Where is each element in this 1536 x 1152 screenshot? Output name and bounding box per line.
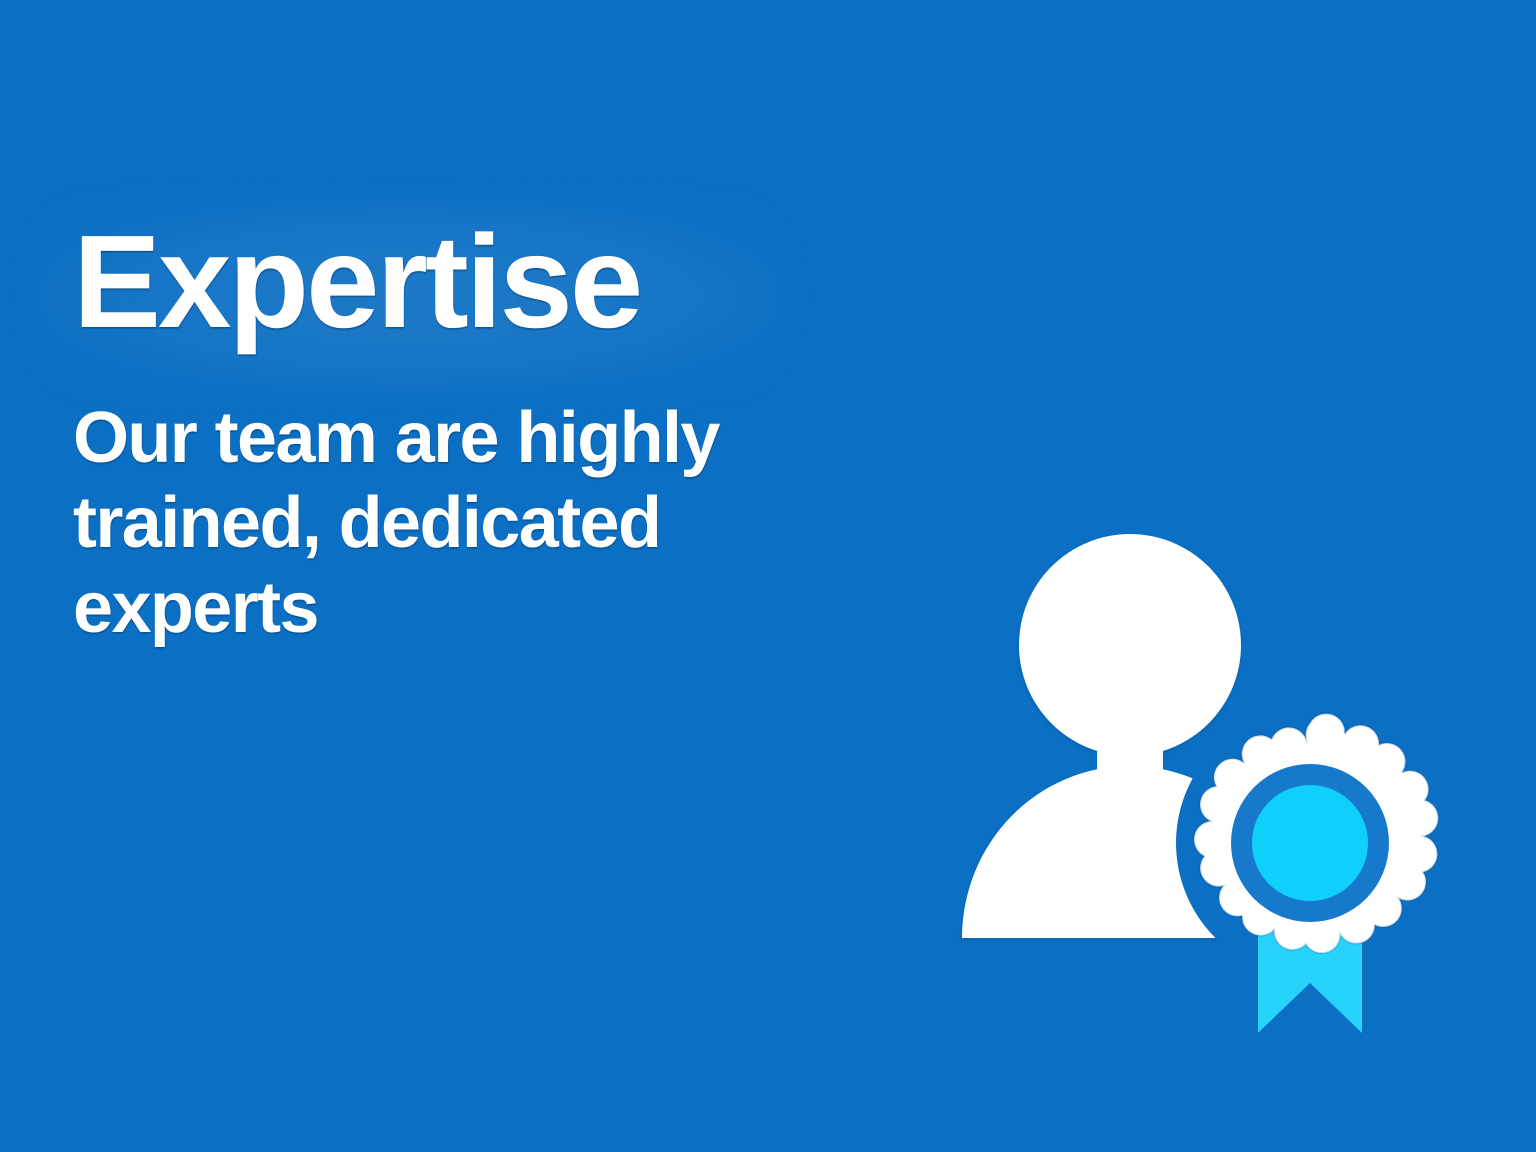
subtitle-line-2: trained, dedicated [73, 481, 903, 566]
subtitle: Our team are highly trained, dedicated e… [73, 396, 903, 651]
certified-expert-person-badge-icon [930, 510, 1470, 1070]
slide-canvas: Expertise Our team are highly trained, d… [0, 0, 1536, 1152]
badge-center [1252, 785, 1368, 901]
subtitle-line-1: Our team are highly [73, 396, 903, 481]
award-rosette-badge-icon [1194, 714, 1438, 1033]
subtitle-line-3: experts [73, 566, 903, 651]
text-content-block: Expertise Our team are highly trained, d… [73, 216, 933, 651]
page-title: Expertise [73, 216, 933, 348]
